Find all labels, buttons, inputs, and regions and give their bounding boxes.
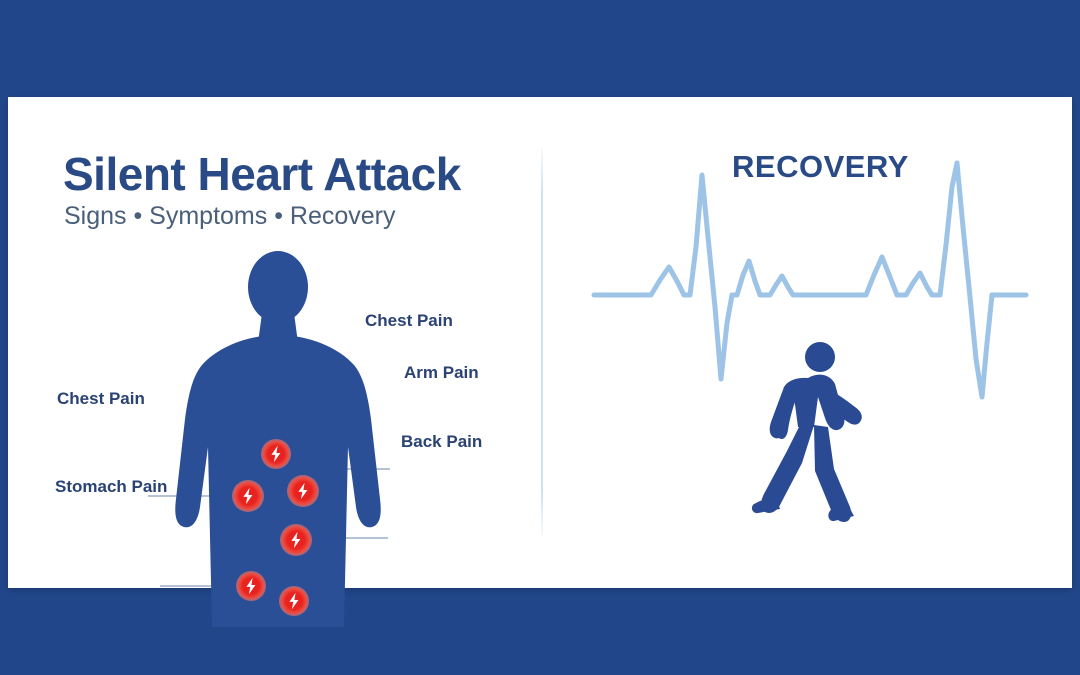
pain-marker-stomach-right[interactable] <box>279 586 309 616</box>
walking-person-icon <box>752 342 862 522</box>
pain-marker-right-chest[interactable] <box>287 475 319 507</box>
pain-marker-left-chest[interactable] <box>232 480 264 512</box>
pain-marker-upper-chest[interactable] <box>261 439 291 469</box>
content-card: Silent Heart Attack Signs • Symptoms • R… <box>8 97 1072 588</box>
human-body-silhouette <box>175 251 380 627</box>
pain-marker-stomach-left[interactable] <box>236 571 266 601</box>
infographic-canvas: Silent Heart Attack Signs • Symptoms • R… <box>0 0 1080 675</box>
pain-marker-mid-abdomen[interactable] <box>280 524 312 556</box>
illustration-layer <box>8 97 1072 588</box>
